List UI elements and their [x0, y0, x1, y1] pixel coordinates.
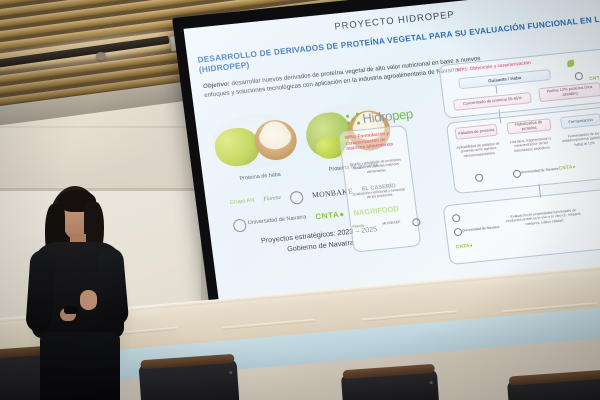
logo-bm	[289, 190, 304, 204]
presentation-photo: PROYECTO HIDROPEP DESARROLLO DE DERIVADO…	[0, 0, 600, 400]
logo-universidad-navarra-label: Universidad de Navarra	[248, 216, 307, 227]
food-image-haba: Proteína de haba	[209, 110, 302, 176]
molecule-icon	[346, 113, 361, 127]
wp1-partner-cnta: CNTA●	[589, 74, 600, 81]
logo-cnta: CNTA●	[315, 210, 345, 221]
university-seal-icon	[232, 218, 247, 232]
auditorium-seat	[341, 369, 439, 400]
presenter	[18, 186, 146, 400]
desk-ledge	[361, 310, 457, 321]
auditorium-seat	[139, 359, 240, 400]
logo-florette: Florette	[263, 196, 281, 203]
right-hand	[80, 290, 97, 310]
objective-label: Objetivo:	[203, 80, 231, 90]
food-caption: Proteína de haba	[217, 170, 303, 185]
slide-title: PROYECTO HIDROPEP	[334, 9, 456, 32]
wall-sensor-icon	[96, 52, 106, 60]
logo-part-1: Hidro	[362, 108, 393, 126]
seal-icon	[412, 218, 421, 227]
legs	[40, 332, 120, 400]
logo-universidad-navarra: Universidad de Navarra	[232, 212, 307, 232]
presentation-clicker-icon	[64, 306, 78, 314]
workpackage-diagram: WP1: Obtención y caracterización Guisant…	[398, 44, 600, 280]
seal-icon	[289, 190, 304, 204]
logo-grupo-an: Grupo AN	[230, 199, 255, 207]
desk-ledge	[222, 319, 316, 330]
wp1-partner-cnta-label: CNTA	[589, 75, 600, 81]
auditorium-seat	[507, 374, 600, 400]
logo-cnta-label: CNTA	[315, 210, 340, 221]
